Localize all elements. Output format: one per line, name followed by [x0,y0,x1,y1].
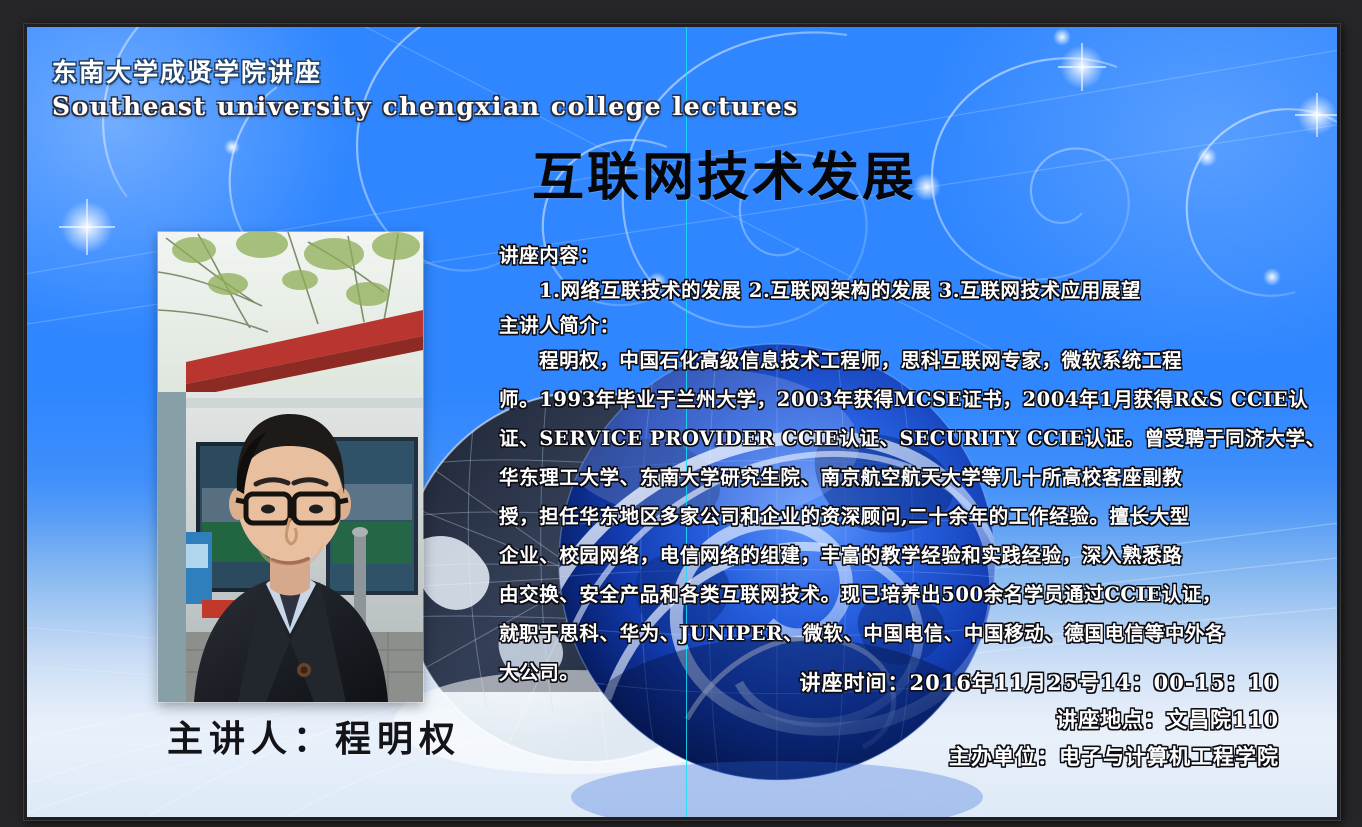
bio-line: 企业、校园网络，电信网络的组建，丰富的教学经验和实践经验，深入熟悉路 [499,539,1319,572]
bio-line: 华东理工大学、东南大学研究生院、南京航空航天大学等几十所高校客座副教 [499,461,1319,494]
bio-line: 就职于思科、华为、JUNIPER、微软、中国电信、中国移动、德国电信等中外各 [499,617,1319,650]
bio-heading: 主讲人简介： [499,309,1319,342]
bio-line: 程明权，中国石化高级信息技术工程师，思科互联网专家，微软系统工程 [499,344,1319,377]
topics-line: 1.网络互联技术的发展 2.互联网架构的发展 3.互联网技术应用展望 [499,274,1319,307]
lecture-time: 讲座时间：2016年11月25号14：00-15：10 [799,664,1279,701]
poster-screenshot: 东南大学成贤学院讲座 Southeast university chengxia… [0,0,1362,827]
speaker-portrait-photo [158,232,423,702]
bio-line: 授，担任华东地区多家公司和企业的资深顾问,二十余年的工作经验。擅长大型 [499,500,1319,533]
bio-line: 由交换、安全产品和各类互联网技术。现已培养出500余名学员通过CCIE认证， [499,578,1319,611]
header-english: Southeast university chengxian college l… [52,92,799,121]
lecture-organizer: 主办单位：电子与计算机工程学院 [799,738,1279,775]
header-chinese: 东南大学成贤学院讲座 [52,53,799,89]
lecture-body-text: 讲座内容： 1.网络互联技术的发展 2.互联网架构的发展 3.互联网技术应用展望… [499,239,1319,695]
bio-line: 证、SERVICE PROVIDER CCIE认证、SECURITY CCIE认… [499,422,1319,455]
poster-header: 东南大学成贤学院讲座 Southeast university chengxia… [52,53,799,121]
poster-footer: 讲座时间：2016年11月25号14：00-15：10 讲座地点：文昌院110 … [799,664,1279,775]
bio-line: 师。1993年毕业于兰州大学，2003年获得MCSE证书，2004年1月获得R&… [499,383,1319,416]
topics-heading: 讲座内容： [499,239,1319,272]
lecture-place: 讲座地点：文昌院110 [799,701,1279,738]
speaker-caption: 主讲人：程明权 [167,710,461,762]
poster-canvas: 东南大学成贤学院讲座 Southeast university chengxia… [27,27,1337,817]
page-title: 互联网技术发展 [532,135,917,210]
